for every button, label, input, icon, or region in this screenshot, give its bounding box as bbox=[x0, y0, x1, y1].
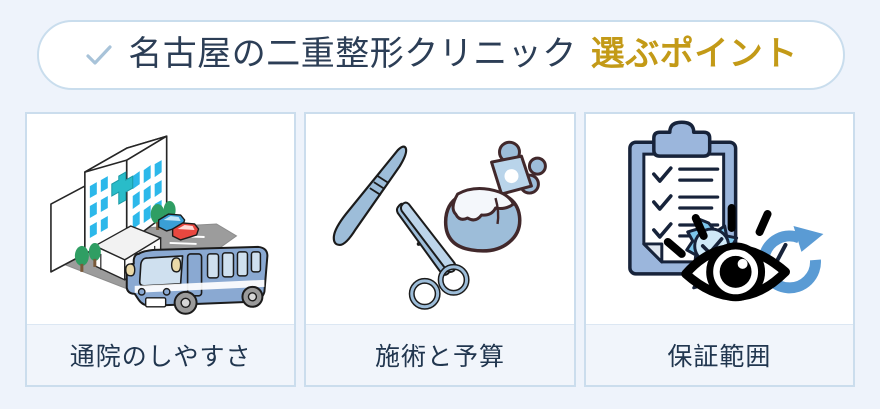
points-card-list: 通院のしやすさ bbox=[25, 112, 855, 387]
card1-artwork bbox=[27, 114, 294, 324]
scalpel-icon bbox=[334, 147, 406, 245]
hospital-building-bus-illustration bbox=[27, 114, 294, 324]
shuttle-bus-icon bbox=[126, 247, 268, 314]
point-card-access[interactable]: 通院のしやすさ bbox=[25, 112, 296, 387]
page-root: 名古屋の二重整形クリニック 選ぶポイント bbox=[0, 0, 880, 409]
scalpel-forceps-coinpurse-illustration bbox=[306, 114, 573, 324]
coin-purse-icon bbox=[446, 142, 546, 251]
header-title: 名古屋の二重整形クリニック 選ぶポイント bbox=[128, 38, 798, 72]
header-title-main: 名古屋の二重整形クリニック bbox=[128, 38, 577, 72]
card3-artwork bbox=[586, 114, 853, 324]
banknote-icon bbox=[492, 156, 532, 194]
check-icon bbox=[84, 41, 114, 71]
card2-artwork bbox=[306, 114, 573, 324]
clipboard-badge-eye-illustration bbox=[586, 114, 853, 324]
header-banner: 名古屋の二重整形クリニック 選ぶポイント bbox=[37, 20, 845, 90]
point-card-warranty[interactable]: 保証範囲 bbox=[584, 112, 855, 387]
point-card-label: 施術と予算 bbox=[306, 324, 573, 385]
point-card-procedure-budget[interactable]: 施術と予算 bbox=[304, 112, 575, 387]
point-card-label: 保証範囲 bbox=[586, 324, 853, 385]
coin-icon bbox=[530, 158, 546, 174]
header-title-accent: 選ぶポイント bbox=[591, 38, 798, 72]
point-card-label: 通院のしやすさ bbox=[27, 324, 294, 385]
